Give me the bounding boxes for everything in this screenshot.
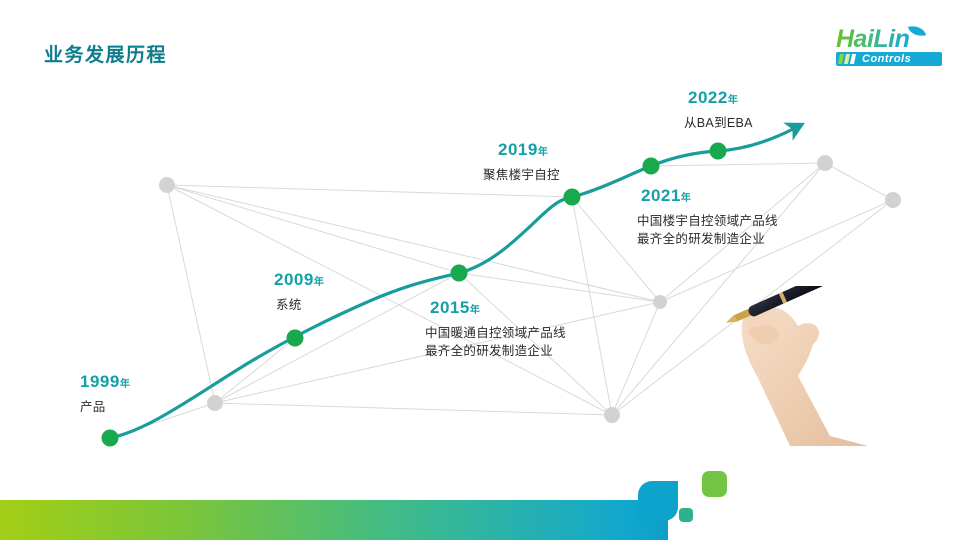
- milestone-2021: 2021年 中国楼宇自控领域产品线 最齐全的研发制造企业: [641, 186, 778, 248]
- growth-curve: [0, 0, 960, 540]
- bottom-notch-shape: [638, 481, 678, 521]
- milestone-2021-desc-line1: 中国楼宇自控领域产品线: [637, 213, 778, 230]
- milestone-2015: 2015年 中国暖通自控领域产品线 最齐全的研发制造企业: [430, 298, 566, 360]
- milestone-2009-year-row: 2009年: [274, 270, 324, 290]
- milestone-2021-year-suffix: 年: [681, 193, 691, 204]
- milestone-2021-year: 2021: [641, 186, 681, 205]
- milestone-2019-year: 2019: [498, 140, 538, 159]
- milestone-2019-year-row: 2019年: [498, 140, 560, 160]
- milestone-2019-desc: 聚焦楼宇自控: [483, 167, 560, 184]
- decoration-square-green: [702, 471, 727, 497]
- milestone-2019-year-suffix: 年: [538, 147, 548, 158]
- milestone-1999: 1999年 产品: [80, 372, 130, 416]
- milestone-2009-year: 2009: [274, 270, 314, 289]
- milestone-2015-year: 2015: [430, 298, 470, 317]
- milestone-2015-year-suffix: 年: [470, 305, 480, 316]
- decoration-square-teal: [679, 508, 693, 522]
- milestone-2015-desc-line2: 最齐全的研发制造企业: [425, 343, 566, 360]
- milestone-2009-desc: 系统: [276, 297, 324, 314]
- bottom-gradient-bar: [0, 500, 668, 540]
- milestone-2021-year-row: 2021年: [641, 186, 778, 206]
- milestone-2021-desc-line2: 最齐全的研发制造企业: [637, 231, 778, 248]
- milestone-2009-year-suffix: 年: [314, 277, 324, 288]
- milestone-2009: 2009年 系统: [274, 270, 324, 314]
- milestone-1999-year-suffix: 年: [120, 379, 130, 390]
- milestone-2022: 2022年 从BA到EBA: [688, 88, 753, 132]
- milestone-2015-desc-line1: 中国暖通自控领域产品线: [425, 325, 566, 342]
- slide-canvas: 业务发展历程 HaiLin Controls: [0, 0, 960, 540]
- milestone-2022-year: 2022: [688, 88, 728, 107]
- milestone-1999-year: 1999: [80, 372, 120, 391]
- milestone-2019: 2019年 聚焦楼宇自控: [498, 140, 560, 184]
- milestone-1999-desc: 产品: [80, 399, 130, 416]
- milestone-2022-year-suffix: 年: [728, 95, 738, 106]
- milestone-2022-desc: 从BA到EBA: [684, 115, 753, 132]
- milestone-2022-year-row: 2022年: [688, 88, 753, 108]
- milestone-2015-year-row: 2015年: [430, 298, 566, 318]
- milestone-1999-year-row: 1999年: [80, 372, 130, 392]
